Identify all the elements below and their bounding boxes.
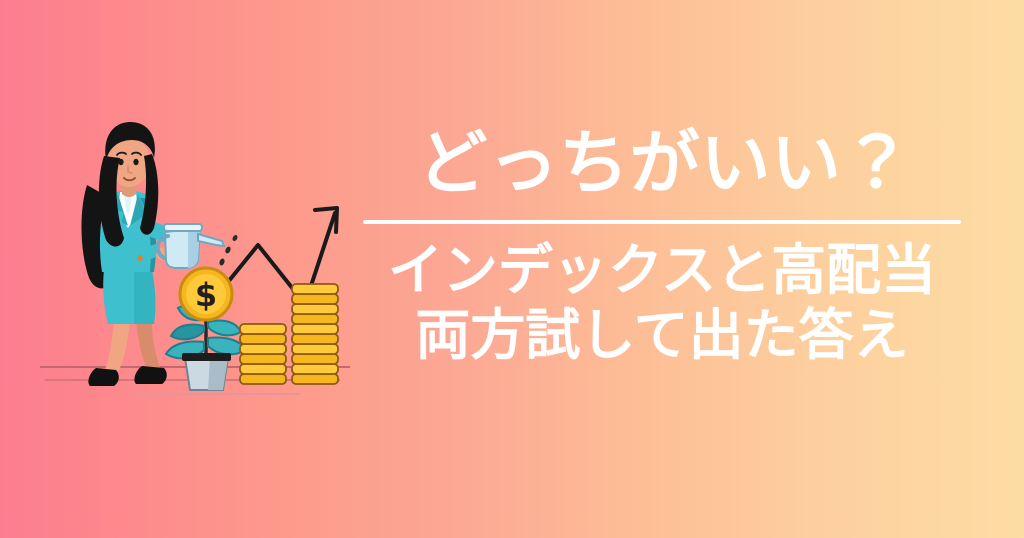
- text-block: どっちがいい？ インデックスと高配当 両方試して出た答え: [357, 128, 967, 418]
- subtitle-line-2: 両方試して出た答え: [357, 303, 967, 368]
- headline: どっちがいい？: [357, 128, 967, 198]
- watering-can-icon: [158, 224, 224, 268]
- money-plant: $: [166, 268, 246, 360]
- divider-line: [363, 220, 961, 224]
- coin-stack-short: [240, 324, 286, 384]
- illustration-woman-watering-money-plant: $: [40, 110, 350, 410]
- svg-text:$: $: [195, 276, 217, 314]
- coin-stack-tall: [292, 284, 338, 384]
- thumbnail-canvas: $: [0, 0, 1024, 538]
- plant-pot: [182, 353, 231, 390]
- subtitle-line-1: インデックスと高配当: [357, 238, 967, 303]
